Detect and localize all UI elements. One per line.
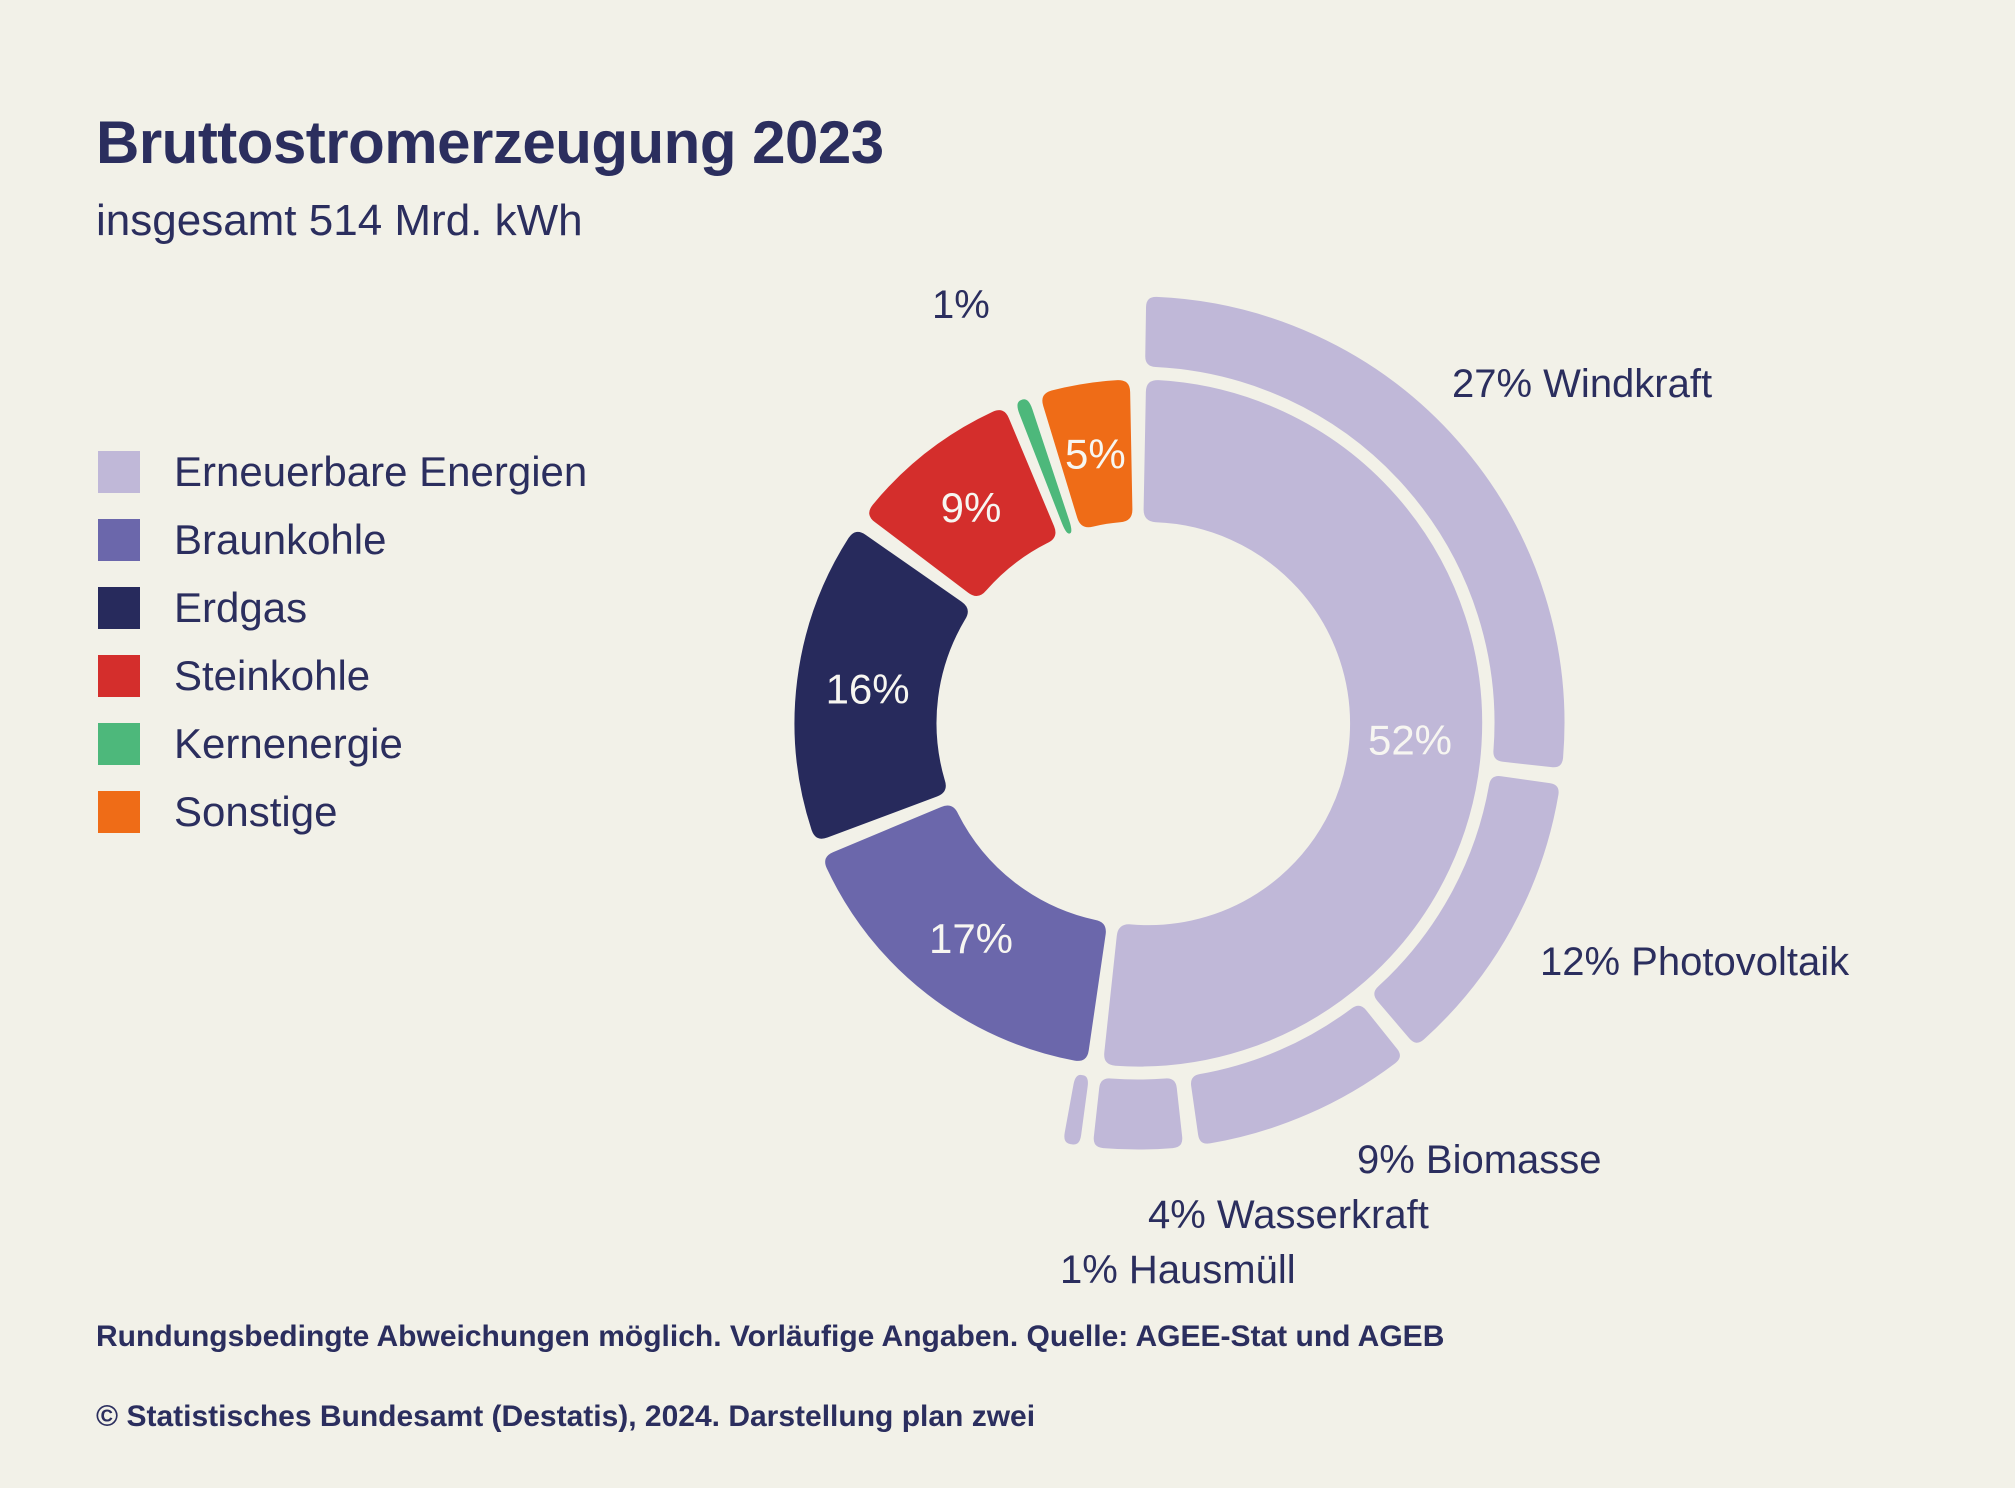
legend-item-label: Braunkohle <box>174 519 386 561</box>
slice-sonstige-value-label: 5% <box>1065 430 1126 477</box>
legend-item-sonstige[interactable]: Sonstige <box>98 788 587 835</box>
page-title: Bruttostromerzeugung 2023 <box>96 108 884 177</box>
legend-item-kernenergie[interactable]: Kernenergie <box>98 720 587 767</box>
page-subtitle: insgesamt 514 Mrd. kWh <box>96 196 583 246</box>
legend-item-erdgas[interactable]: Erdgas <box>98 584 587 631</box>
legend-item-label: Sonstige <box>174 791 337 833</box>
legend-item-erneuerbare-energien[interactable]: Erneuerbare Energien <box>98 448 587 495</box>
legend-swatch-icon <box>98 723 140 765</box>
legend-item-label: Steinkohle <box>174 655 370 697</box>
chart-legend: Erneuerbare Energien Braunkohle Erdgas S… <box>98 448 587 835</box>
legend-swatch-icon <box>98 451 140 493</box>
slice-erneuerbare-energien-value-label: 52% <box>1368 717 1452 764</box>
legend-item-label: Erneuerbare Energien <box>174 451 587 493</box>
legend-swatch-icon <box>98 587 140 629</box>
footer-copyright: © Statistisches Bundesamt (Destatis), 20… <box>96 1400 1035 1434</box>
outer-slice-hausm-ll[interactable] <box>1063 1073 1090 1146</box>
outer-slice-wasserkraft[interactable] <box>1092 1077 1184 1151</box>
legend-swatch-icon <box>98 655 140 697</box>
legend-swatch-icon <box>98 791 140 833</box>
slice-steinkohle-value-label: 9% <box>941 484 1002 531</box>
callout-wasserkraft: 4% Wasserkraft <box>1148 1193 1429 1238</box>
legend-item-label: Erdgas <box>174 587 307 629</box>
callout-kernenergie: 1% <box>932 283 990 328</box>
slice-erdgas-value-label: 16% <box>826 665 910 712</box>
callout-photovoltaik: 12% Photovoltaik <box>1540 940 1849 985</box>
legend-item-braunkohle[interactable]: Braunkohle <box>98 516 587 563</box>
callout-windkraft: 27% Windkraft <box>1452 362 1712 407</box>
callout-biomasse: 9% Biomasse <box>1357 1138 1602 1183</box>
slice-braunkohle-value-label: 17% <box>929 915 1013 962</box>
legend-item-steinkohle[interactable]: Steinkohle <box>98 652 587 699</box>
callout-hausmuell: 1% Hausmüll <box>1060 1248 1296 1293</box>
legend-item-label: Kernenergie <box>174 723 403 765</box>
footer-note: Rundungsbedingte Abweichungen möglich. V… <box>96 1320 1444 1354</box>
legend-swatch-icon <box>98 519 140 561</box>
